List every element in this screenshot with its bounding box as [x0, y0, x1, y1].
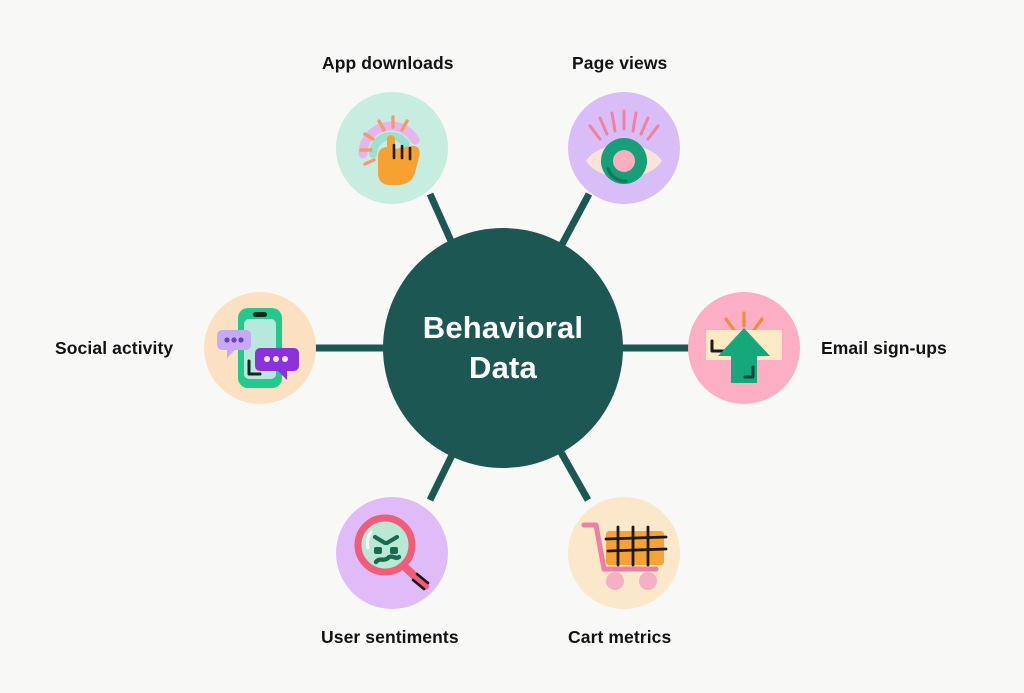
label-page-views: Page views — [572, 53, 667, 74]
node-page-views[interactable] — [568, 92, 680, 204]
hub-title-line2: Data — [469, 350, 537, 385]
node-user-sentiments[interactable] — [336, 497, 448, 609]
label-email-sign-ups: Email sign-ups — [821, 338, 947, 359]
node-app-downloads[interactable] — [336, 92, 448, 204]
phone-chat-bubbles-icon — [215, 304, 305, 392]
label-user-sentiments: User sentiments — [321, 627, 459, 648]
spoke-page-views — [559, 194, 589, 250]
central-hub: Behavioral Data — [383, 228, 623, 468]
envelope-up-arrow-icon — [698, 307, 790, 389]
node-social-activity[interactable] — [204, 292, 316, 404]
diagram-canvas: Behavioral Data — [0, 0, 1024, 693]
shopping-cart-icon — [578, 513, 670, 593]
label-app-downloads: App downloads — [322, 53, 454, 74]
tap-hand-icon — [349, 105, 435, 191]
node-cart-metrics[interactable] — [568, 497, 680, 609]
eye-icon — [578, 105, 670, 191]
hub-title-line1: Behavioral — [423, 310, 584, 345]
magnifier-angry-face-icon — [349, 510, 435, 596]
node-email-sign-ups[interactable] — [688, 292, 800, 404]
label-cart-metrics: Cart metrics — [568, 627, 671, 648]
hub-title: Behavioral Data — [423, 308, 584, 387]
label-social-activity: Social activity — [55, 338, 173, 359]
spoke-cart-metrics — [558, 447, 588, 500]
